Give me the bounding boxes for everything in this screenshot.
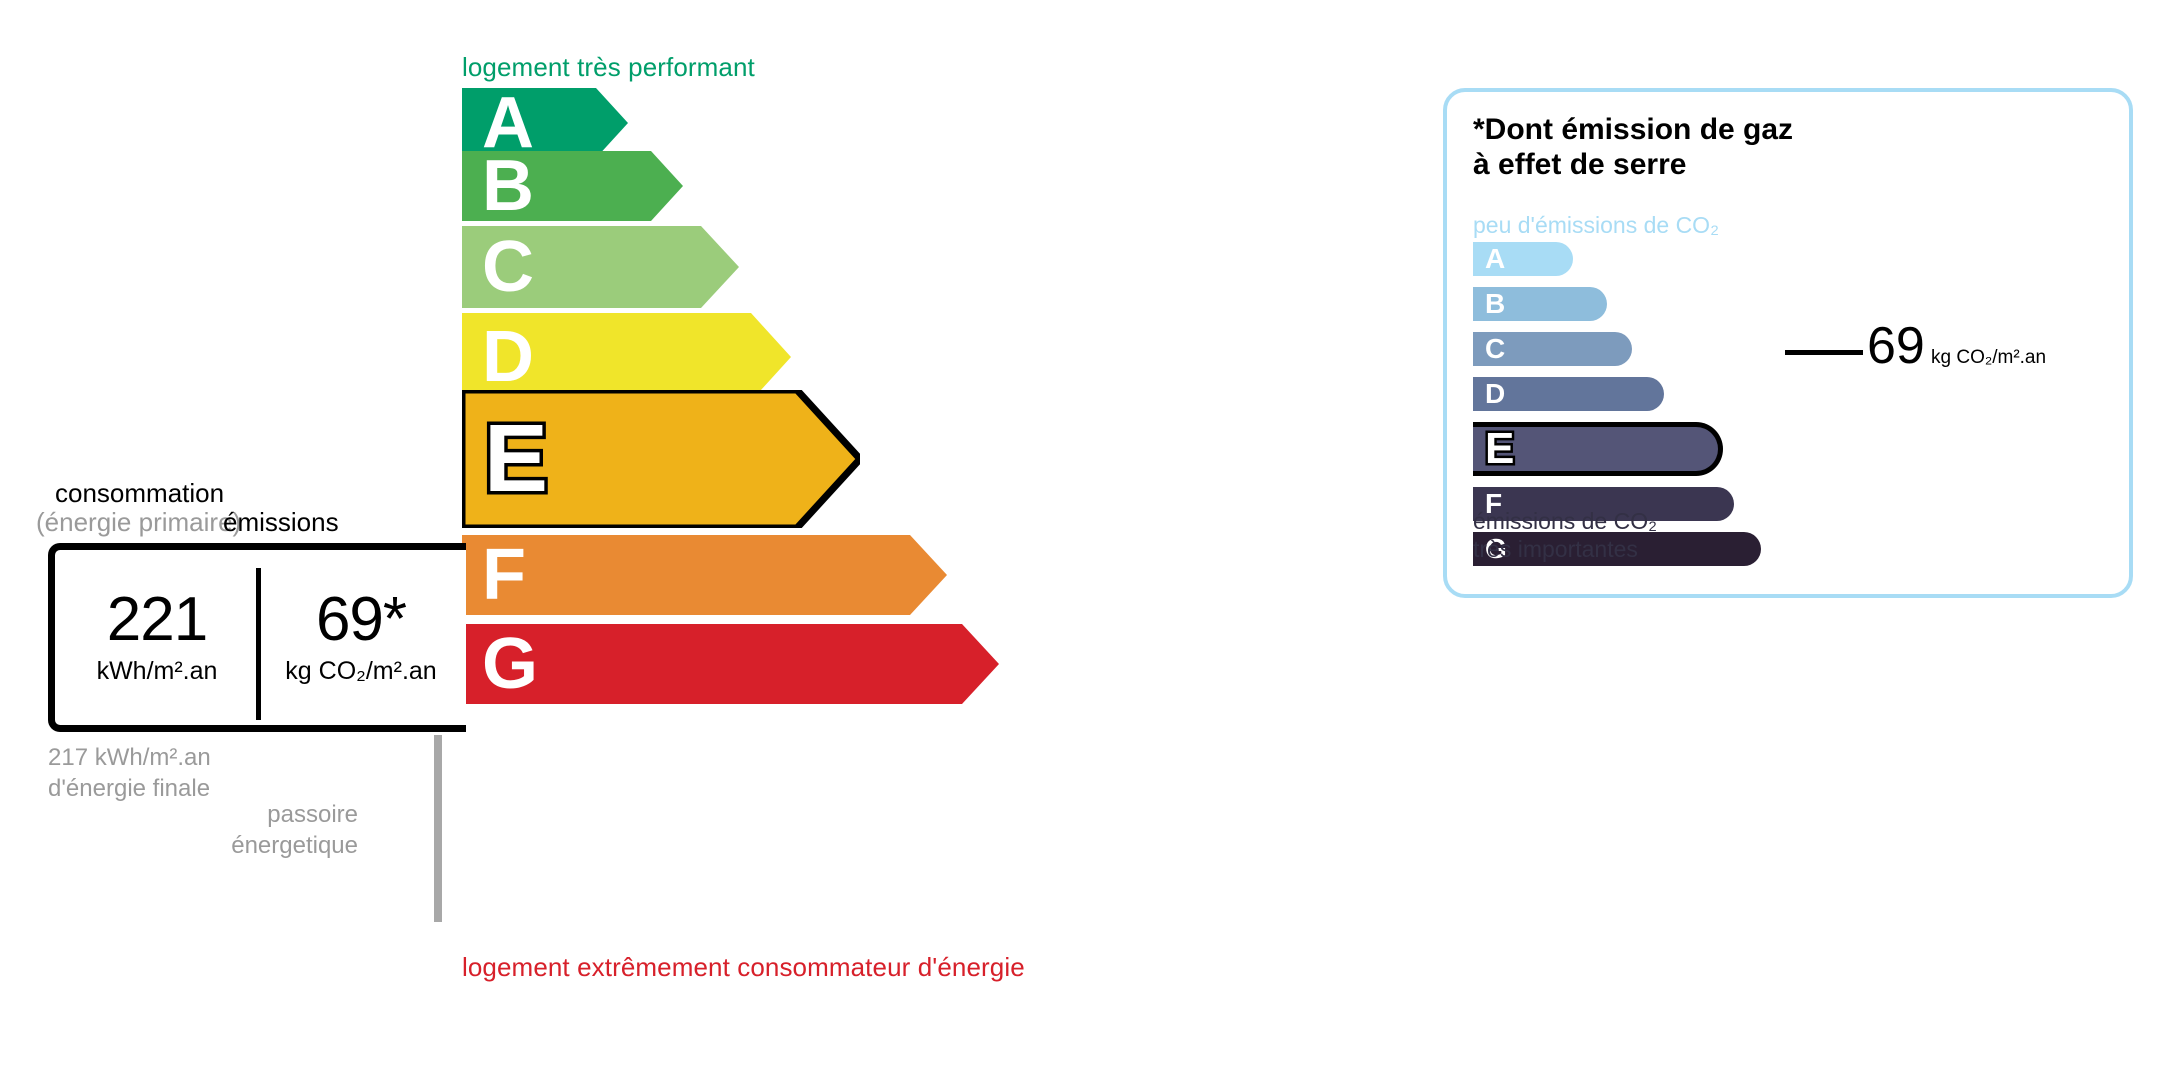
consumption-unit: kWh/m².an — [97, 657, 218, 686]
co2-band-letter-a: A — [1485, 245, 1505, 273]
energy-band-letter-g: G — [482, 628, 538, 700]
energy-scale-bottom-caption: logement extrêmement consommateur d'éner… — [462, 952, 1025, 983]
co2-band-e: E — [1473, 422, 1723, 476]
co2-band-letter-c: C — [1485, 335, 1505, 363]
energy-band-letter-c: C — [482, 231, 534, 303]
emission-value-cell: 69* kg CO₂/m².an — [263, 550, 459, 725]
co2-panel-title: *Dont émission de gaz à effet de serre — [1473, 112, 1793, 183]
passoire-note-line2: énergetique — [210, 831, 358, 862]
energy-band-letter-e: E — [484, 411, 548, 507]
passoire-note-line1: passoire — [210, 800, 358, 831]
energy-scale-top-caption: logement très performant — [462, 52, 755, 83]
energy-band-c: C — [462, 226, 739, 308]
co2-band-b: B — [1473, 287, 1607, 321]
co2-callout-unit: kg CO₂/m².an — [1931, 347, 2046, 369]
passoire-energetique-note: passoire énergetique — [210, 800, 358, 861]
co2-callout-value: 69 — [1867, 320, 1925, 372]
energy-band-f: F — [462, 535, 947, 615]
label-emissions: émissions — [223, 507, 339, 538]
final-energy-note-line1: 217 kWh/m².an — [48, 743, 211, 774]
energy-performance-panel: logement très performant ABCDEFG logemen… — [0, 0, 1400, 1079]
emission-value: 69* — [316, 589, 406, 651]
final-energy-note-line2: d'énergie finale — [48, 774, 211, 805]
energy-band-g: G — [462, 624, 999, 704]
emission-unit: kg CO₂/m².an — [285, 657, 436, 686]
energy-band-letter-b: B — [482, 150, 534, 222]
co2-band-letter-b: B — [1485, 290, 1505, 318]
co2-scale-top-caption: peu d'émissions de CO₂ — [1473, 212, 1719, 239]
energy-band-d: D — [462, 313, 791, 401]
label-consommation: consommation — [55, 478, 224, 509]
energy-band-shape-g — [462, 624, 999, 704]
co2-callout-leader-line — [1785, 350, 1863, 355]
co2-band-a: A — [1473, 242, 1573, 276]
co2-band-c: C — [1473, 332, 1632, 366]
co2-band-letter-e: E — [1485, 427, 1514, 471]
co2-band-d: D — [1473, 377, 1664, 411]
value-divider — [256, 568, 261, 720]
passoire-indicator-bar — [434, 735, 442, 922]
final-energy-note: 217 kWh/m².an d'énergie finale — [48, 743, 211, 804]
energy-band-shape-f — [462, 535, 947, 615]
label-energie-primaire: (énergie primaire) — [36, 507, 241, 538]
consumption-value: 221 — [107, 589, 207, 651]
co2-emission-panel: *Dont émission de gaz à effet de serre p… — [1443, 88, 2133, 598]
energy-band-letter-d: D — [482, 321, 534, 393]
consumption-value-cell: 221 kWh/m².an — [61, 550, 253, 725]
co2-band-letter-d: D — [1485, 380, 1505, 408]
energy-band-e: E — [462, 390, 860, 528]
energy-band-letter-f: F — [482, 539, 526, 611]
co2-scale-bottom-caption: émissions de CO₂ très importantes — [1473, 507, 1657, 563]
energy-band-b: B — [462, 151, 683, 221]
dpe-value-box: 221 kWh/m².an 69* kg CO₂/m².an — [48, 543, 466, 732]
